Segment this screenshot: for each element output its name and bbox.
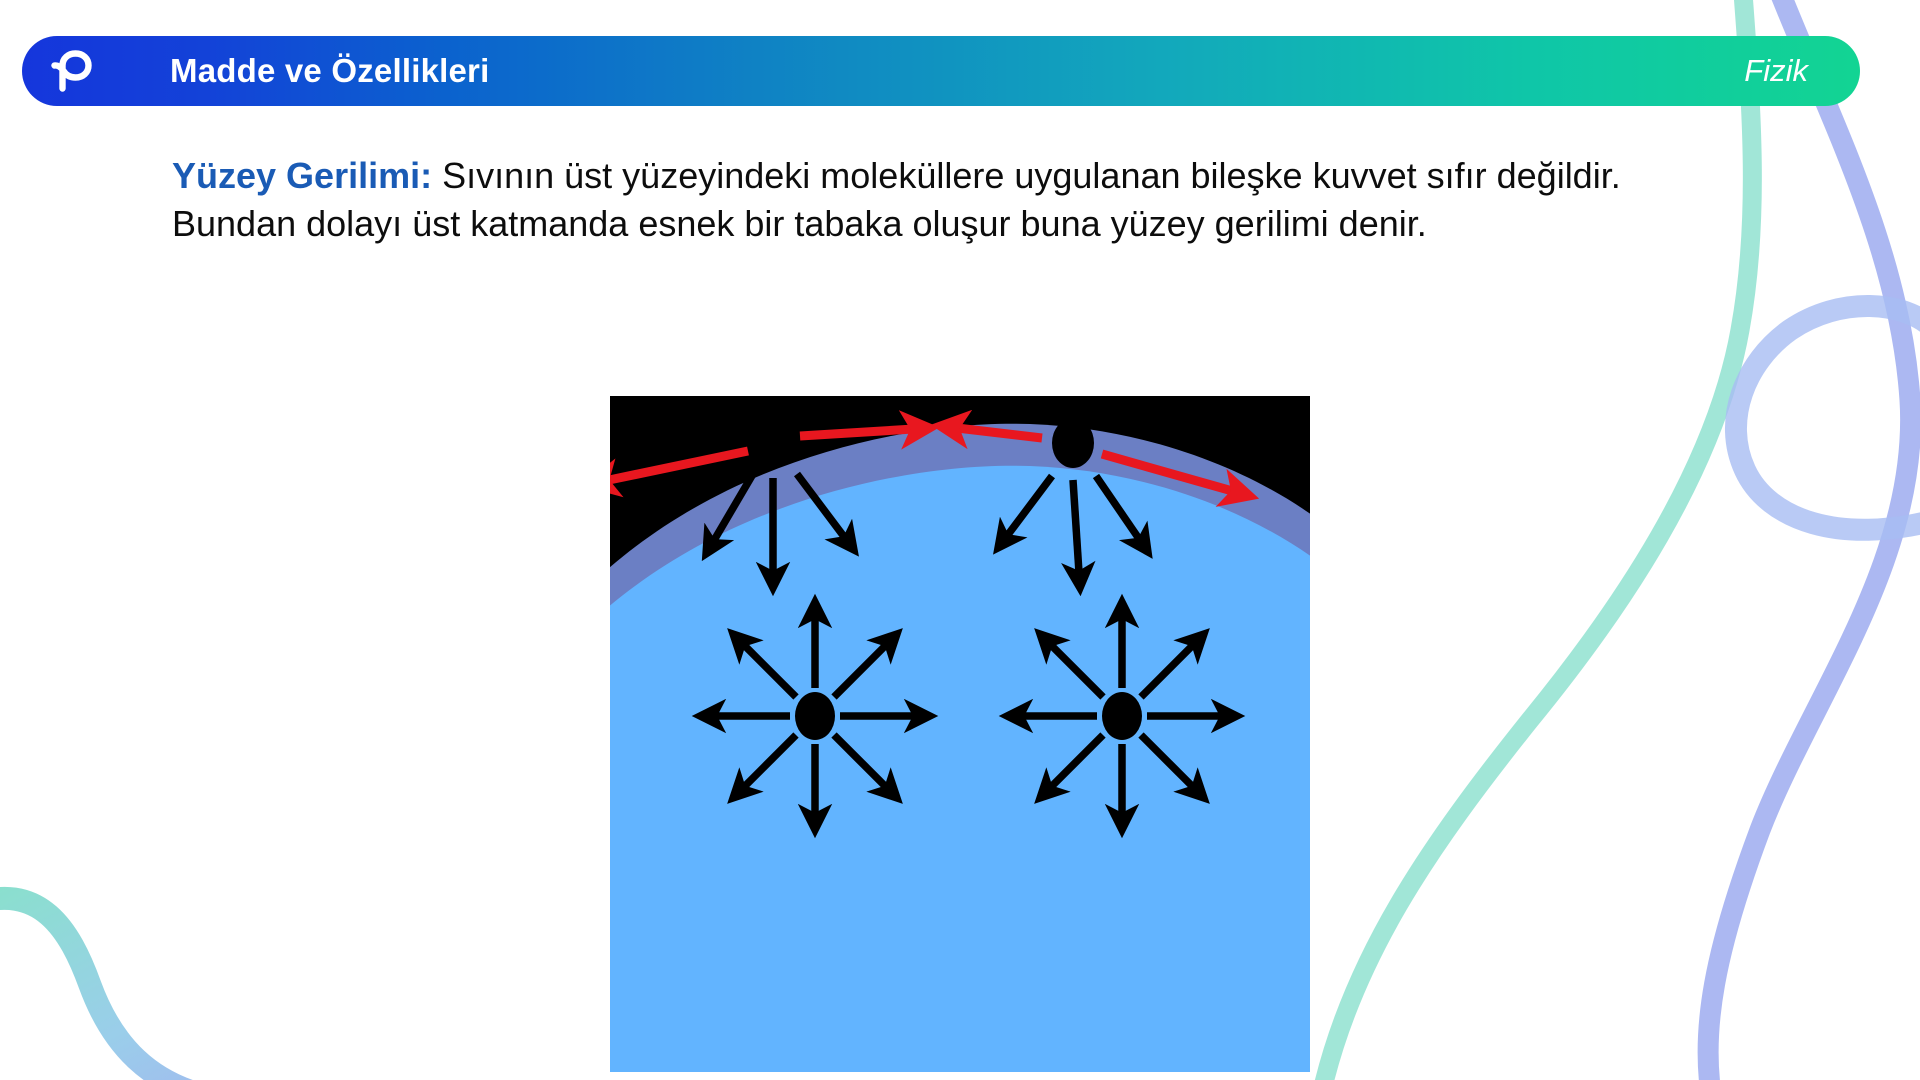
page-title: Madde ve Özellikleri <box>170 52 489 90</box>
brand-p-logo-icon <box>48 47 96 95</box>
lesson-paragraph: Yüzey Gerilimi: Sıvının üst yüzeyindeki … <box>172 152 1752 248</box>
lesson-term: Yüzey Gerilimi: <box>172 155 432 196</box>
subject-label: Fizik <box>1744 53 1808 89</box>
deco-curve-bottom-left <box>0 898 310 1080</box>
bulk-molecule-left <box>700 602 930 830</box>
bulk-molecule-right <box>1007 602 1237 830</box>
surface-molecule-dot-right <box>1052 418 1094 468</box>
deco-curve-blue-arc <box>1736 306 1920 530</box>
bulk-molecule-dot-left <box>795 692 835 740</box>
header-bar: Madde ve Özellikleri Fizik <box>22 36 1860 106</box>
surface-tension-diagram <box>610 396 1310 1072</box>
bulk-molecule-dot-right <box>1102 692 1142 740</box>
surface-molecule-dot-left <box>752 416 794 466</box>
liquid-region <box>610 466 1310 1072</box>
